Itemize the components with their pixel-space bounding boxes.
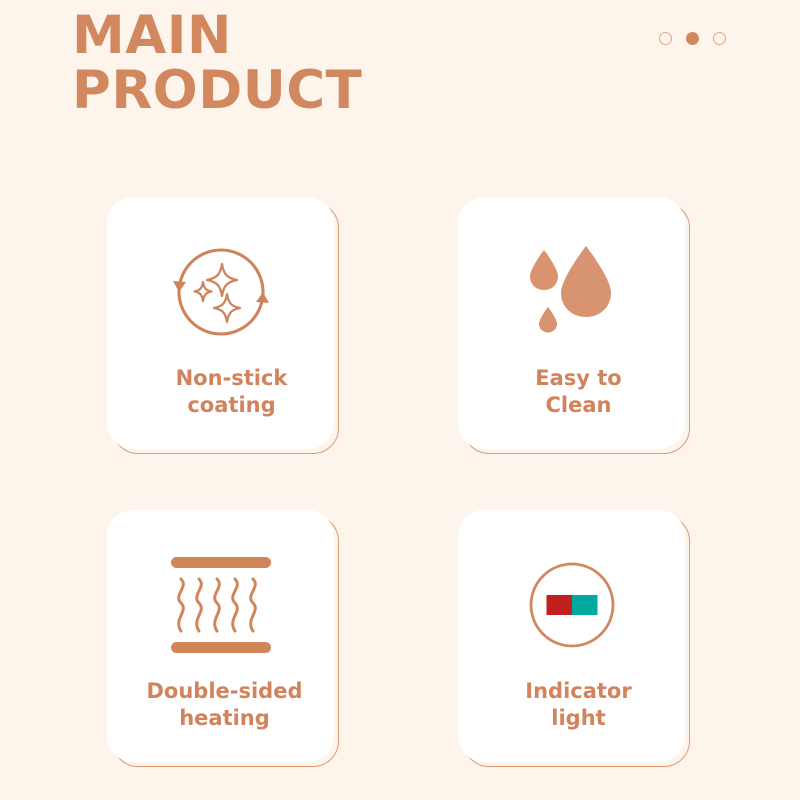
pager-dot-2[interactable] bbox=[686, 32, 699, 45]
sparkle-rotation-icon bbox=[107, 227, 334, 357]
water-droplets-icon bbox=[458, 227, 685, 357]
feature-card-grid: Non-stick coating Easy to Clean bbox=[107, 197, 697, 762]
feature-card-indicator-light[interactable]: Indicator light bbox=[458, 510, 685, 762]
page-title: MAIN PRODUCT bbox=[72, 8, 492, 118]
indicator-teal-segment bbox=[572, 595, 598, 615]
indicator-light-icon bbox=[458, 540, 685, 670]
feature-card-easy-to-clean[interactable]: Easy to Clean bbox=[458, 197, 685, 449]
pager-dot-1[interactable] bbox=[659, 32, 672, 45]
pager-dot-3[interactable] bbox=[713, 32, 726, 45]
feature-card-label: Double-sided heating bbox=[107, 678, 334, 732]
indicator-red-segment bbox=[546, 595, 572, 615]
feature-card-label: Indicator light bbox=[458, 678, 685, 732]
feature-card-label: Easy to Clean bbox=[458, 365, 685, 419]
heat-waves-icon bbox=[107, 540, 334, 670]
pager-dots[interactable] bbox=[659, 32, 726, 45]
feature-card-label: Non-stick coating bbox=[107, 365, 334, 419]
feature-card-non-stick-coating[interactable]: Non-stick coating bbox=[107, 197, 334, 449]
page-header: MAIN PRODUCT bbox=[0, 0, 800, 150]
feature-card-double-sided-heating[interactable]: Double-sided heating bbox=[107, 510, 334, 762]
